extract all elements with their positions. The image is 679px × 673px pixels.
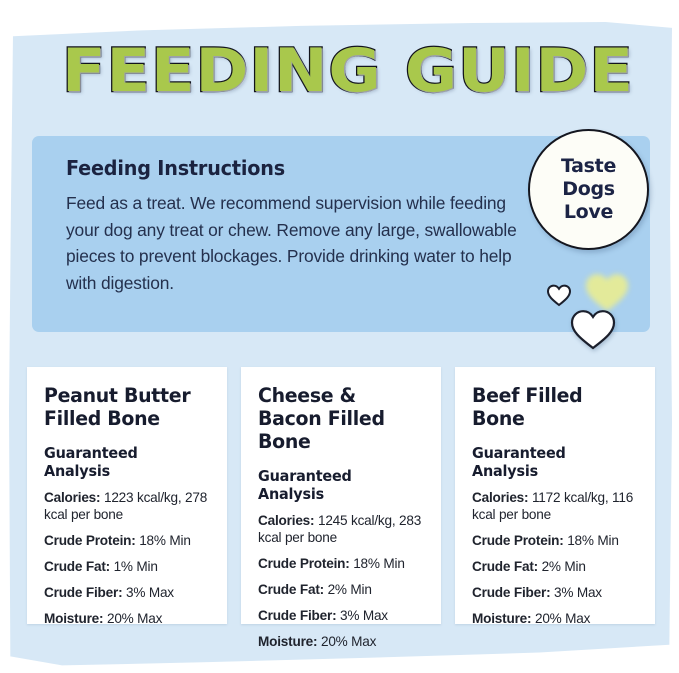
spec-label: Moisture:: [258, 634, 317, 649]
spec-value: 3% Max: [340, 608, 388, 623]
guaranteed-analysis-heading: Guaranteed Analysis: [258, 467, 417, 503]
spec-row: Crude Protein: 18% Min: [44, 532, 210, 549]
spec-value: 2% Min: [328, 582, 372, 597]
heart-outline-small-icon: [546, 283, 572, 307]
spec-row: Moisture: 20% Max: [472, 610, 638, 627]
guaranteed-analysis-heading: Guaranteed Analysis: [472, 444, 631, 480]
product-card-title: Peanut Butter Filled Bone: [44, 384, 205, 430]
page-title: FEEDING GUIDE: [62, 36, 622, 108]
spec-label: Crude Protein:: [258, 556, 350, 571]
spec-label: Calories:: [44, 490, 100, 505]
badge-line-3: Love: [564, 201, 613, 223]
spec-value: 1% Min: [114, 559, 158, 574]
spec-label: Moisture:: [472, 611, 531, 626]
product-card: Cheese & Bacon Filled Bone Guaranteed An…: [241, 367, 441, 624]
spec-row: Crude Protein: 18% Min: [472, 532, 638, 549]
spec-row: Calories: 1223 kcal/kg, 278 kcal per bon…: [44, 489, 210, 523]
spec-label: Crude Fat:: [472, 559, 538, 574]
badge-text: Taste Dogs Love: [561, 155, 616, 224]
spec-label: Crude Fat:: [258, 582, 324, 597]
spec-label: Crude Fiber:: [472, 585, 550, 600]
spec-label: Crude Fiber:: [258, 608, 336, 623]
guaranteed-analysis-heading: Guaranteed Analysis: [44, 444, 203, 480]
spec-row: Crude Fat: 2% Min: [472, 558, 638, 575]
spec-row: Crude Fiber: 3% Max: [44, 584, 210, 601]
feeding-guide-page: FEEDING GUIDE Feeding Instructions Feed …: [0, 0, 679, 673]
page-title-text: FEEDING GUIDE: [62, 36, 656, 106]
spec-row: Crude Fat: 2% Min: [258, 581, 424, 598]
spec-row: Crude Protein: 18% Min: [258, 555, 424, 572]
taste-dogs-love-badge: Taste Dogs Love: [528, 129, 649, 250]
spec-row: Calories: 1172 kcal/kg, 116 kcal per bon…: [472, 489, 638, 523]
product-card-title: Beef Filled Bone: [472, 384, 633, 430]
spec-value: 3% Max: [126, 585, 174, 600]
feeding-instructions-content: Feeding Instructions Feed as a treat. We…: [66, 156, 536, 296]
heart-white-large-icon: [569, 307, 617, 351]
spec-label: Crude Fiber:: [44, 585, 122, 600]
spec-row: Calories: 1245 kcal/kg, 283 kcal per bon…: [258, 512, 424, 546]
spec-value: 3% Max: [554, 585, 602, 600]
spec-value: 18% Min: [353, 556, 405, 571]
spec-label: Calories:: [472, 490, 528, 505]
spec-row: Crude Fiber: 3% Max: [472, 584, 638, 601]
spec-value: 18% Min: [139, 533, 191, 548]
spec-value: 20% Max: [321, 634, 376, 649]
product-card-title: Cheese & Bacon Filled Bone: [258, 384, 419, 453]
spec-row: Crude Fat: 1% Min: [44, 558, 210, 575]
spec-label: Crude Fat:: [44, 559, 110, 574]
spec-row: Moisture: 20% Max: [44, 610, 210, 627]
product-card: Peanut Butter Filled Bone Guaranteed Ana…: [27, 367, 227, 624]
spec-value: 20% Max: [107, 611, 162, 626]
spec-row: Crude Fiber: 3% Max: [258, 607, 424, 624]
spec-label: Moisture:: [44, 611, 103, 626]
spec-label: Crude Protein:: [44, 533, 136, 548]
spec-value: 18% Min: [567, 533, 619, 548]
feeding-instructions-heading: Feeding Instructions: [66, 156, 517, 180]
feeding-instructions-body: Feed as a treat. We recommend supervisio…: [66, 190, 536, 296]
badge-line-1: Taste: [561, 155, 616, 177]
spec-label: Crude Protein:: [472, 533, 564, 548]
spec-value: 20% Max: [535, 611, 590, 626]
product-card: Beef Filled Bone Guaranteed Analysis Cal…: [455, 367, 655, 624]
badge-line-2: Dogs: [562, 178, 615, 200]
spec-row: Moisture: 20% Max: [258, 633, 424, 650]
spec-value: 2% Min: [542, 559, 586, 574]
spec-label: Calories:: [258, 513, 314, 528]
product-cards: Peanut Butter Filled Bone Guaranteed Ana…: [27, 367, 655, 624]
